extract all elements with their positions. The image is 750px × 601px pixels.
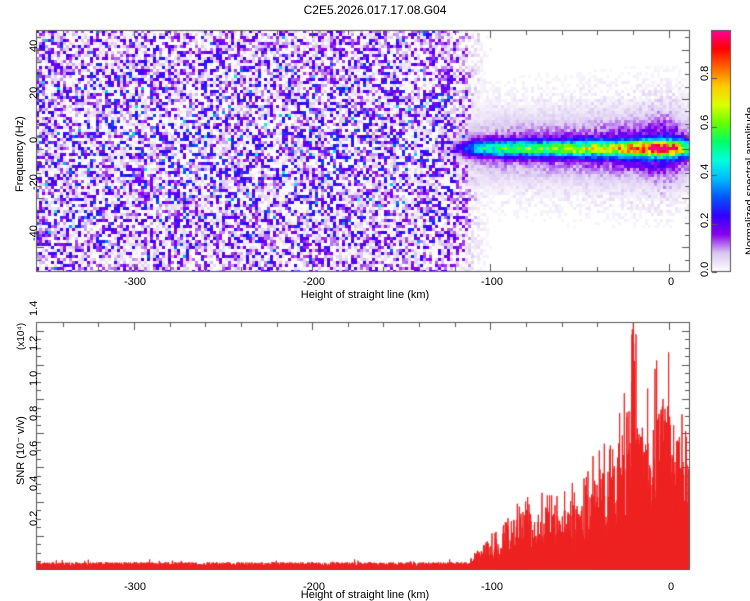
figure-container: C2E5.2026.017.17.08.G04 -300 -200 -100 0…	[0, 0, 750, 600]
plot-canvas	[0, 0, 750, 600]
